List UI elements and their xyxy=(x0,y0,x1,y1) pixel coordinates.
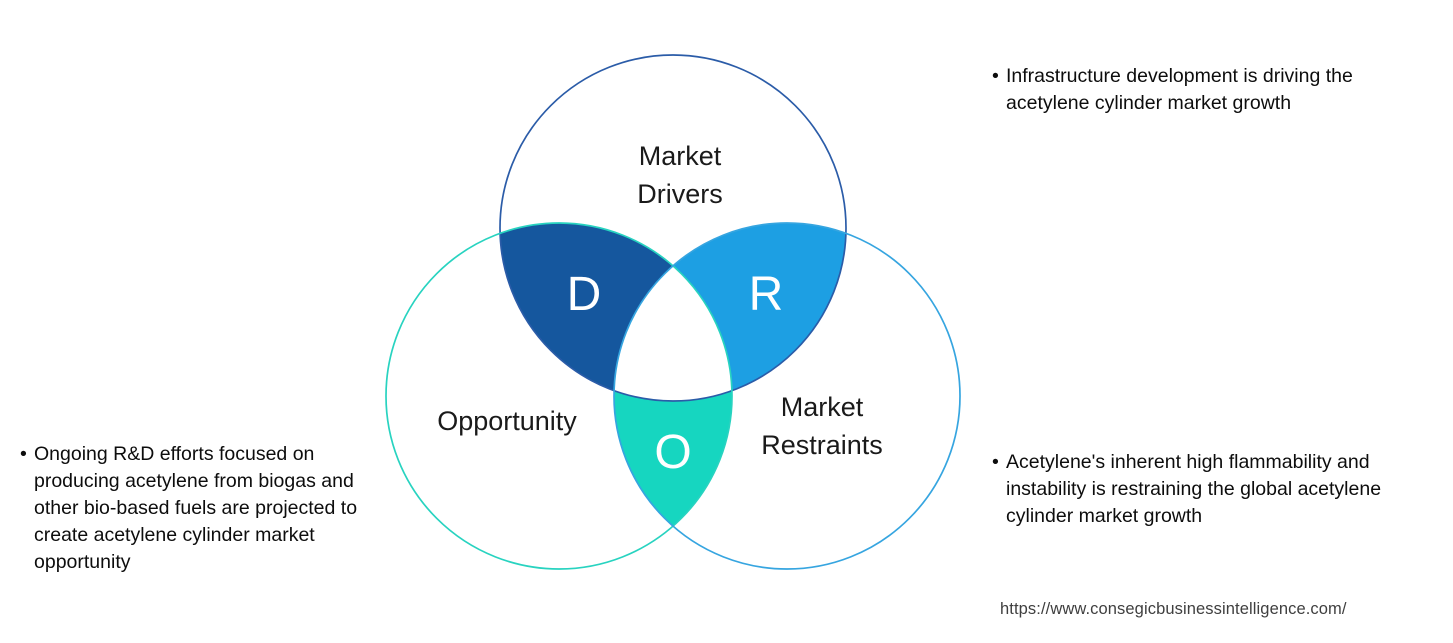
lens-letter-o: O xyxy=(654,426,691,479)
callout-opportunity: • Ongoing R&D efforts focused on produci… xyxy=(20,441,362,576)
source-url[interactable]: https://www.consegicbusinessintelligence… xyxy=(1000,598,1445,620)
page-root: Market Drivers Opportunity Market Restra… xyxy=(0,0,1453,643)
callout-opportunity-text: Ongoing R&D efforts focused on producing… xyxy=(34,441,362,576)
dro-venn-diagram: Market Drivers Opportunity Market Restra… xyxy=(370,40,980,590)
label-market-drivers-line2: Drivers xyxy=(637,179,723,209)
lens-letter-r: R xyxy=(749,268,784,321)
bullet-icon: • xyxy=(992,63,1006,90)
venn-svg: Market Drivers Opportunity Market Restra… xyxy=(370,40,980,590)
lens-letter-d: D xyxy=(567,268,602,321)
callout-driver-text: Infrastructure development is driving th… xyxy=(1006,63,1440,117)
callout-restraint-text: Acetylene's inherent high flammability a… xyxy=(1006,449,1440,530)
bullet-icon: • xyxy=(20,441,34,468)
bullet-icon: • xyxy=(992,449,1006,476)
callout-restraint: • Acetylene's inherent high flammability… xyxy=(992,449,1440,530)
label-market-restraints-line1: Market xyxy=(781,392,864,422)
callout-driver: • Infrastructure development is driving … xyxy=(992,63,1440,117)
label-opportunity: Opportunity xyxy=(437,406,577,436)
label-market-drivers-line1: Market xyxy=(639,141,722,171)
label-market-restraints-line2: Restraints xyxy=(761,430,883,460)
